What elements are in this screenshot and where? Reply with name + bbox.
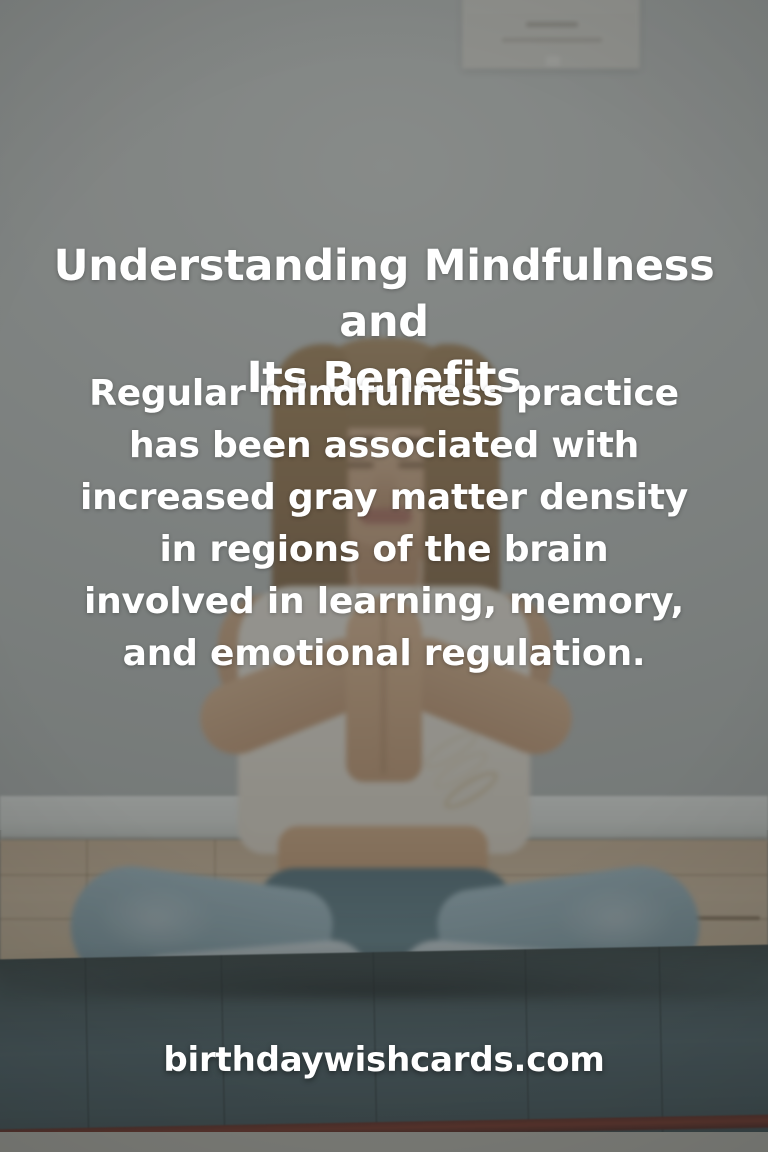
card-body-line-4: in regions of the brain xyxy=(8,524,760,576)
text-layer: Understanding Mindfulness and Its Benefi… xyxy=(0,0,768,1152)
card-body-line-3: increased gray matter density xyxy=(8,472,760,524)
card-body-line-6: and emotional regulation. xyxy=(8,628,760,680)
quote-card: Understanding Mindfulness and Its Benefi… xyxy=(0,0,768,1152)
card-body-line-2: has been associated with xyxy=(8,420,760,472)
card-body: Regular mindfulness practice has been as… xyxy=(8,368,760,680)
site-watermark: birthdaywishcards.com xyxy=(0,1040,768,1080)
card-body-line-1: Regular mindfulness practice xyxy=(8,368,760,420)
card-title-line-1: Understanding Mindfulness and xyxy=(8,238,760,350)
card-body-line-5: involved in learning, memory, xyxy=(8,576,760,628)
